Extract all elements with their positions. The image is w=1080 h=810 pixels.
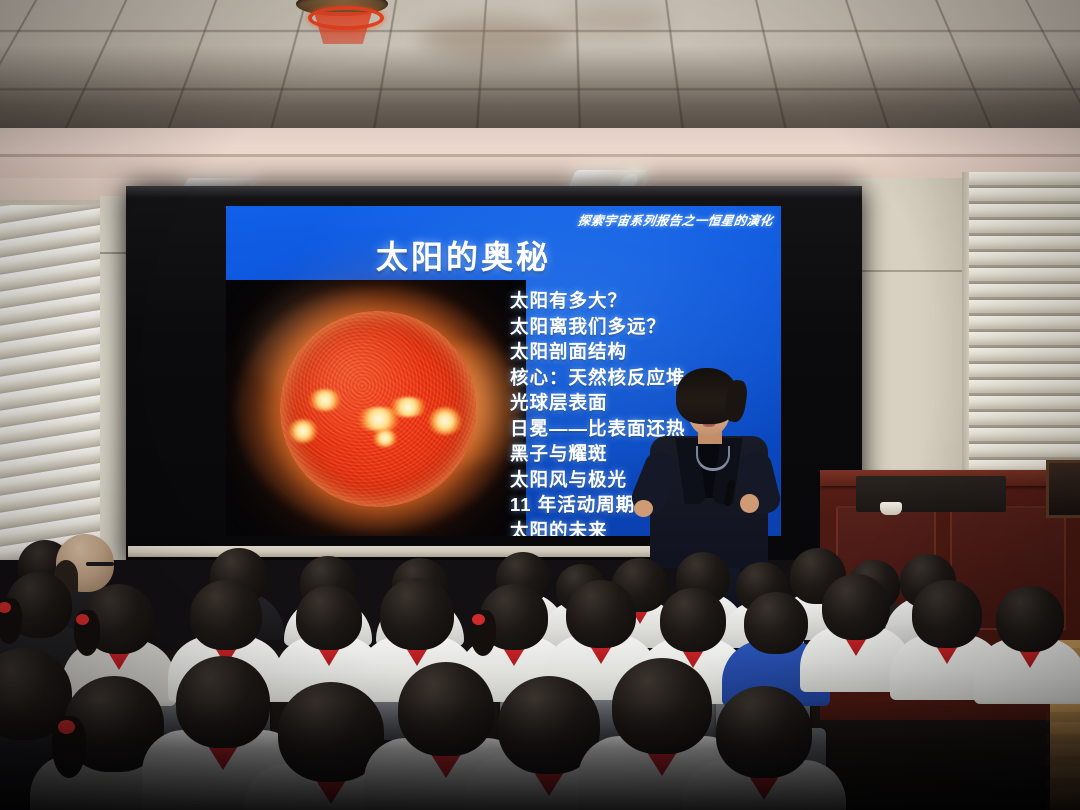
hoop-net <box>314 12 372 44</box>
sun-photograph <box>234 286 522 532</box>
slide-title: 太阳的奥秘 <box>376 232 551 278</box>
audience-head <box>380 578 454 650</box>
bezel-highlight <box>126 186 862 198</box>
audience-hair-tie <box>472 614 485 625</box>
audience-head <box>660 588 726 652</box>
basketball-hoop-icon <box>286 0 398 44</box>
slide-header-text: 探索宇宙系列报告之一恒星的演化 <box>577 210 775 229</box>
audience-head <box>190 580 262 650</box>
sun-active-region <box>428 407 462 435</box>
ceiling-stain <box>560 6 670 36</box>
audience-head <box>296 586 362 650</box>
sun-active-region <box>308 389 342 411</box>
slide-bullet: 太阳剖面结构 <box>510 339 776 365</box>
foreground-shadow <box>0 700 1080 810</box>
sun-active-region <box>388 397 428 417</box>
photo-scene: 探索宇宙系列报告之一恒星的演化 太阳的奥秘 太阳有多大？太阳离我们多远？太阳剖面… <box>0 0 1080 810</box>
sun-active-region <box>372 429 398 447</box>
audience-head <box>912 580 982 648</box>
sun-active-region <box>288 419 318 443</box>
sun-disk <box>280 311 476 507</box>
audience-head <box>996 586 1064 652</box>
audience-head <box>744 592 808 654</box>
audience-head <box>566 580 636 648</box>
eyeglasses-icon <box>86 562 114 566</box>
audience-hair-tie <box>76 614 89 625</box>
slide-bullet: 太阳有多大？ <box>510 288 776 314</box>
audience-head <box>822 574 890 640</box>
slide-bullet: 太阳离我们多远？ <box>510 314 776 340</box>
slide-image-panel <box>226 280 526 536</box>
